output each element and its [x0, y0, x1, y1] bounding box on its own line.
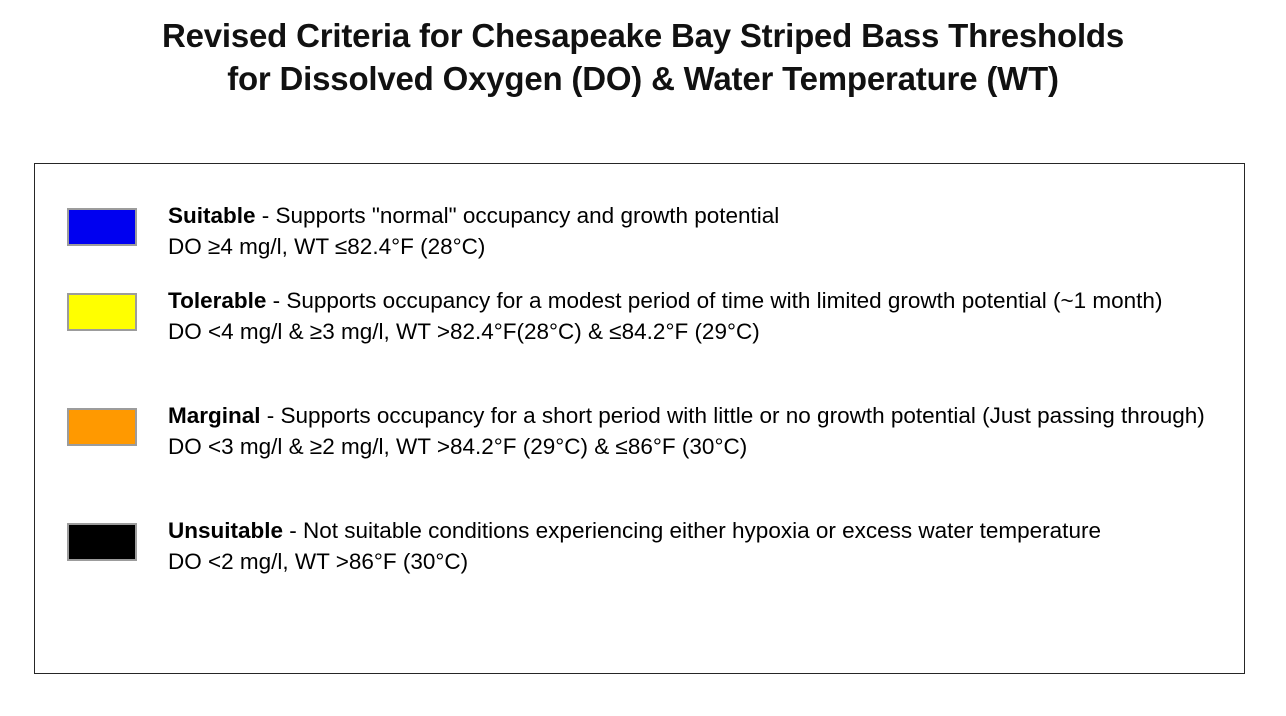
- legend-entry-unsuitable-text: Unsuitable - Not suitable conditions exp…: [168, 516, 1230, 577]
- legend-panel: Suitable - Supports "normal" occupancy a…: [34, 163, 1245, 674]
- legend-description-unsuitable: Not suitable conditions experiencing eit…: [303, 518, 1101, 543]
- legend-entry-suitable-text: Suitable - Supports "normal" occupancy a…: [168, 201, 1230, 262]
- legend-separator: -: [256, 203, 276, 228]
- legend-term-tolerable: Tolerable: [168, 288, 266, 313]
- legend-term-unsuitable: Unsuitable: [168, 518, 283, 543]
- legend-entry-tolerable-text: Tolerable - Supports occupancy for a mod…: [168, 286, 1230, 347]
- swatch-unsuitable: [67, 523, 137, 561]
- legend-criteria-unsuitable: DO <2 mg/l, WT >86°F (30°C): [168, 547, 1230, 578]
- swatch-suitable: [67, 208, 137, 246]
- legend-description-tolerable: Supports occupancy for a modest period o…: [286, 288, 1162, 313]
- legend-term-marginal: Marginal: [168, 403, 261, 428]
- legend-entry-marginal-text: Marginal - Supports occupancy for a shor…: [168, 401, 1230, 462]
- legend-description-suitable: Supports "normal" occupancy and growth p…: [276, 203, 780, 228]
- legend-criteria-suitable: DO ≥4 mg/l, WT ≤82.4°F (28°C): [168, 232, 1230, 263]
- legend-separator: -: [261, 403, 281, 428]
- legend-criteria-tolerable: DO <4 mg/l & ≥3 mg/l, WT >82.4°F(28°C) &…: [168, 317, 1230, 348]
- legend-description-marginal: Supports occupancy for a short period wi…: [281, 403, 1205, 428]
- swatch-marginal: [67, 408, 137, 446]
- legend-term-suitable: Suitable: [168, 203, 256, 228]
- page-title: Revised Criteria for Chesapeake Bay Stri…: [0, 14, 1286, 100]
- legend-separator: -: [266, 288, 286, 313]
- swatch-tolerable: [67, 293, 137, 331]
- legend-separator: -: [283, 518, 303, 543]
- legend-criteria-marginal: DO <3 mg/l & ≥2 mg/l, WT >84.2°F (29°C) …: [168, 432, 1230, 463]
